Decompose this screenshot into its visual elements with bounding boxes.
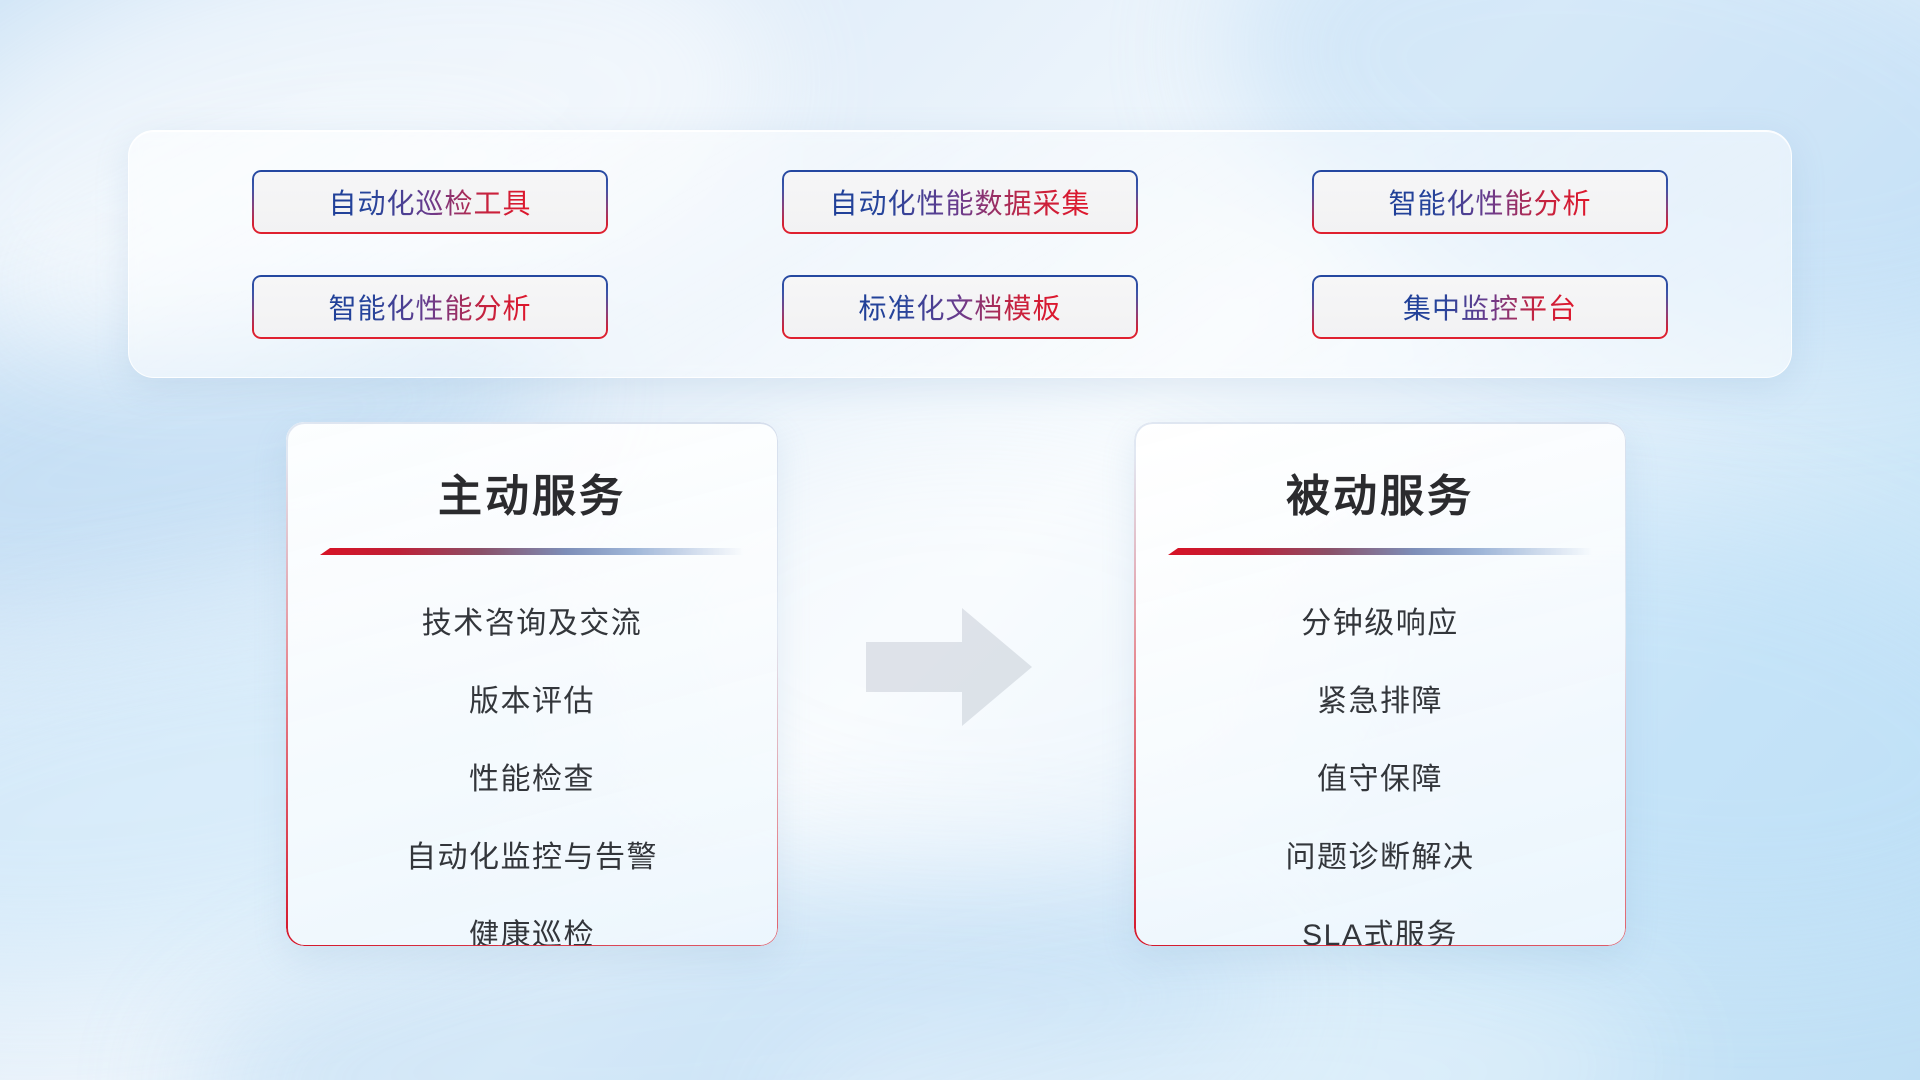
- list-item: 版本评估: [286, 659, 778, 737]
- bg-streak: [753, 949, 1666, 1080]
- slide-canvas: 自动化巡检工具 自动化性能数据采集 智能化性能分析 智能化性能分析 标准化文档模…: [0, 0, 1920, 1080]
- capability-tag-label: 自动化巡检工具: [328, 182, 531, 222]
- capability-tag-2[interactable]: 智能化性能分析: [1312, 170, 1668, 234]
- card-title: 被动服务: [1134, 460, 1626, 524]
- title-gradient-rule: [320, 548, 744, 555]
- list-item: 分钟级响应: [1134, 581, 1626, 659]
- capability-tag-1[interactable]: 自动化性能数据采集: [782, 170, 1138, 234]
- card-title: 主动服务: [286, 460, 778, 524]
- service-list: 分钟级响应 紧急排障 值守保障 问题诊断解决 SLA式服务: [1134, 581, 1626, 946]
- capability-tag-5[interactable]: 集中监控平台: [1312, 275, 1668, 339]
- service-list: 技术咨询及交流 版本评估 性能检查 自动化监控与告警 健康巡检: [286, 581, 778, 946]
- right-arrow-icon: [866, 608, 1032, 726]
- capability-tag-label: 集中监控平台: [1403, 287, 1577, 327]
- card-active-service: 主动服务 技术咨询及交流 版本评估 性能检查 自动化监控与告警 健康巡检: [286, 422, 778, 946]
- list-item: 性能检查: [286, 737, 778, 815]
- list-item: 值守保障: [1134, 737, 1626, 815]
- title-gradient-rule: [1168, 548, 1592, 555]
- capability-tag-label: 智能化性能分析: [1388, 182, 1591, 222]
- capability-tags-panel: 自动化巡检工具 自动化性能数据采集 智能化性能分析 智能化性能分析 标准化文档模…: [128, 130, 1792, 378]
- list-item: 自动化监控与告警: [286, 815, 778, 893]
- capability-tag-label: 智能化性能分析: [328, 287, 531, 327]
- list-item: 紧急排障: [1134, 659, 1626, 737]
- capability-tag-3[interactable]: 智能化性能分析: [252, 275, 608, 339]
- capability-tag-4[interactable]: 标准化文档模板: [782, 275, 1138, 339]
- card-passive-service: 被动服务 分钟级响应 紧急排障 值守保障 问题诊断解决 SLA式服务: [1134, 422, 1626, 946]
- capability-tag-label: 标准化文档模板: [858, 287, 1061, 327]
- capability-tag-0[interactable]: 自动化巡检工具: [252, 170, 608, 234]
- list-item: SLA式服务: [1134, 893, 1626, 946]
- list-item: 问题诊断解决: [1134, 815, 1626, 893]
- list-item: 技术咨询及交流: [286, 581, 778, 659]
- list-item: 健康巡检: [286, 893, 778, 946]
- capability-tag-label: 自动化性能数据采集: [829, 182, 1090, 222]
